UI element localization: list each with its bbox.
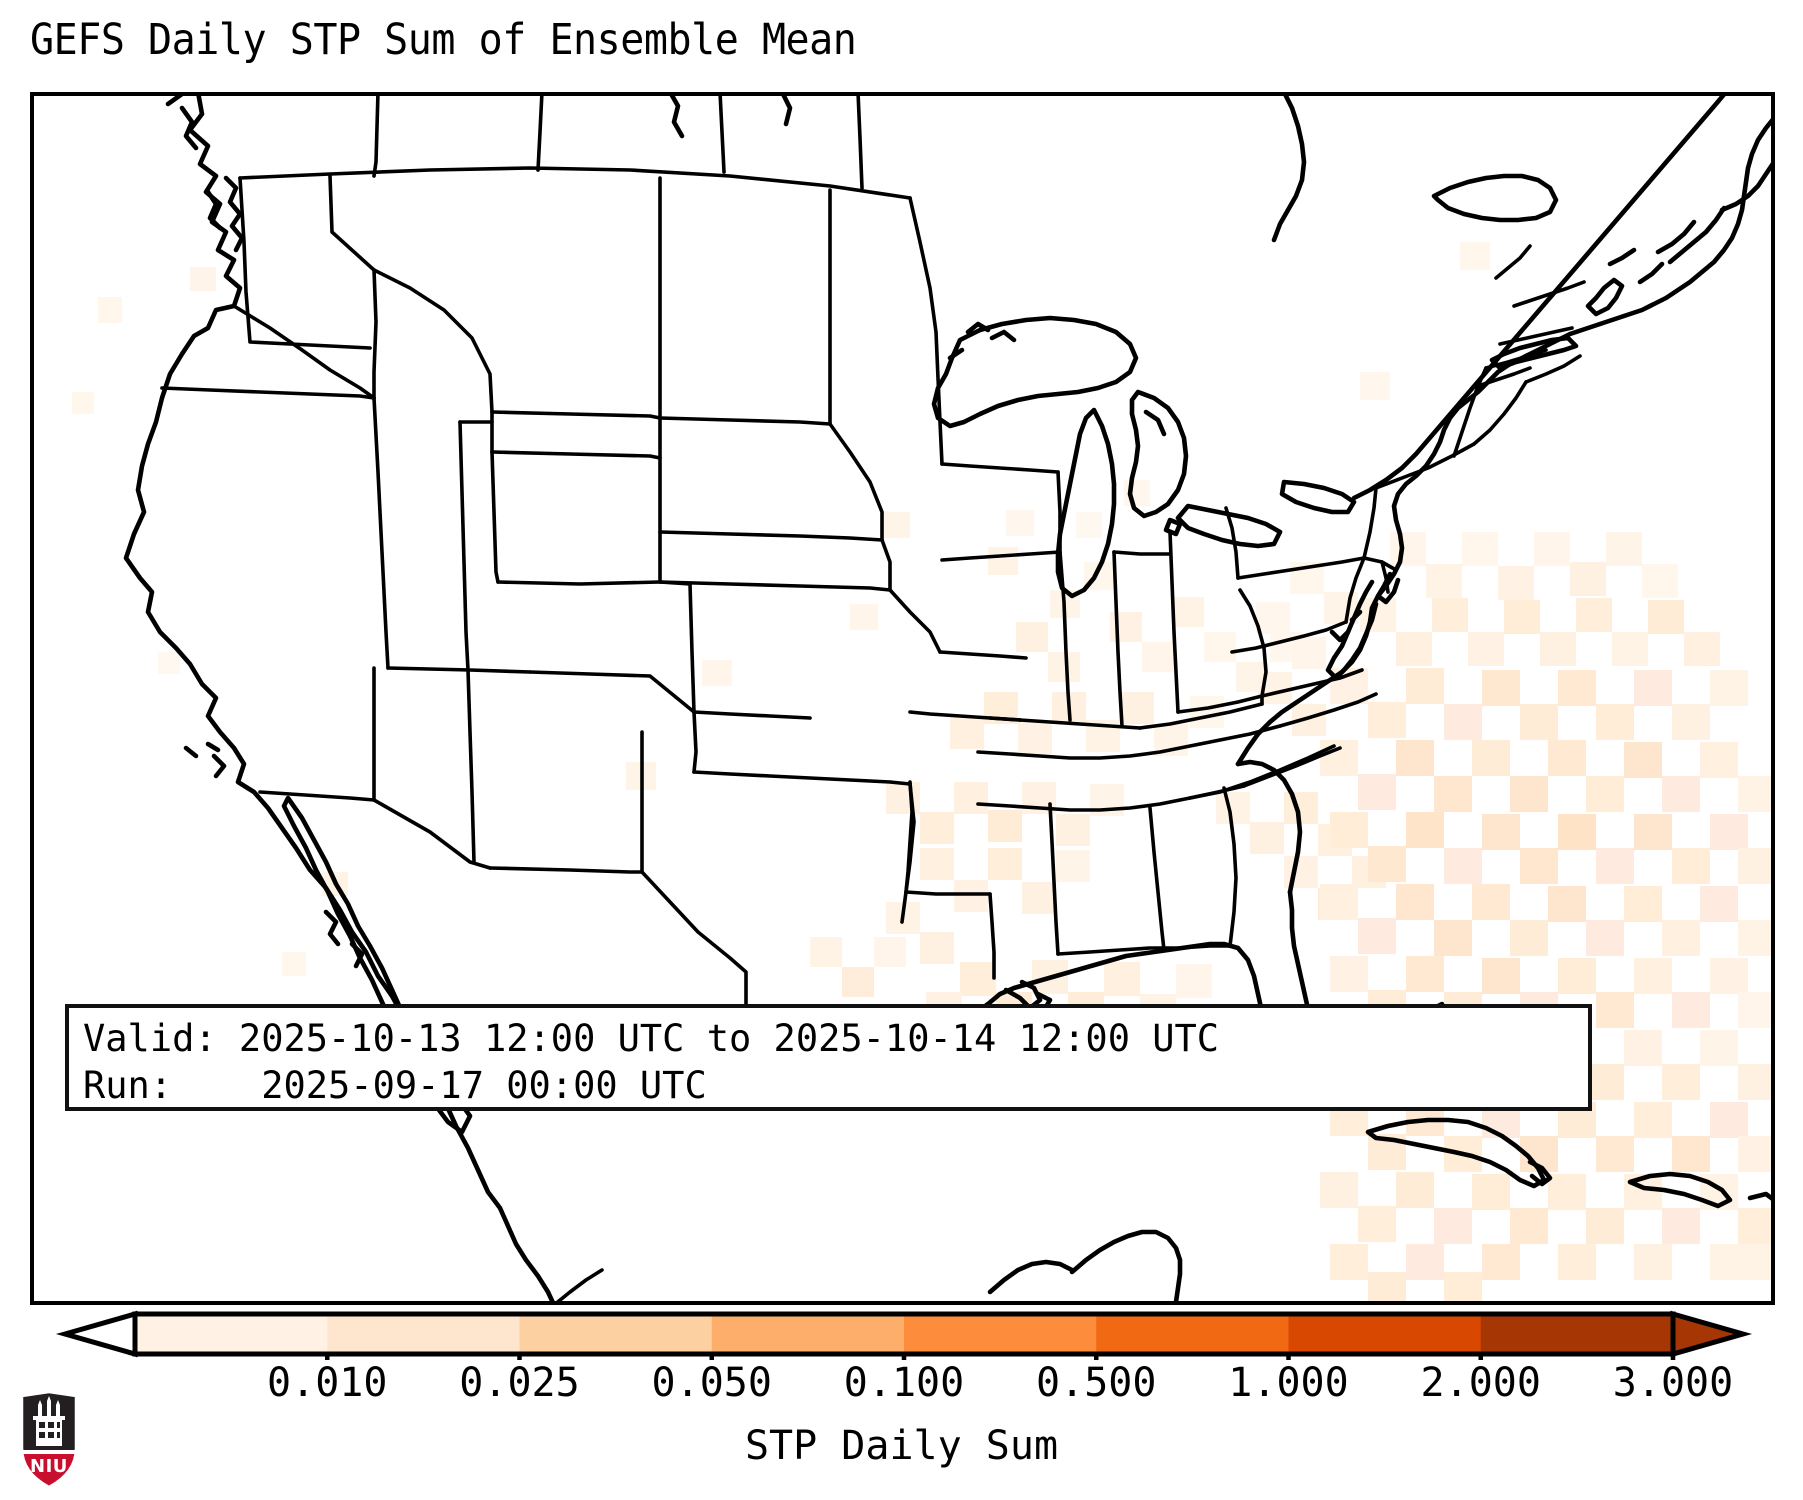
state-borders: [162, 92, 1584, 1305]
colorbar-band: [520, 1314, 713, 1354]
colorbar-tick-label: 0.500: [1036, 1360, 1156, 1406]
colorbar-band: [1289, 1314, 1482, 1354]
niu-wordmark: NIU: [30, 1456, 68, 1477]
colorbar-axis-label: STP Daily Sum: [0, 1422, 1803, 1470]
run-time-line: Run: 2025-09-17 00:00 UTC: [83, 1062, 1574, 1109]
colorbar-tick-label: 0.100: [844, 1360, 964, 1406]
colorbar-tick-label: 1.000: [1228, 1360, 1348, 1406]
colorbar[interactable]: [30, 1308, 1778, 1360]
colorbar-tick-labels: 0.0100.0250.0500.1000.5001.0002.0003.000: [0, 1360, 1803, 1412]
shield-divider: [18, 1450, 80, 1454]
colorbar-tick-label: 3.000: [1613, 1360, 1733, 1406]
valid-run-info-box: Valid: 2025-10-13 12:00 UTC to 2025-10-1…: [65, 1004, 1592, 1111]
stp-shaded-cells: [72, 242, 1775, 1302]
colorbar-band: [904, 1314, 1097, 1354]
colorbar-bands: [135, 1314, 1674, 1354]
colorbar-band: [1096, 1314, 1289, 1354]
map-canvas: [30, 92, 1775, 1305]
colorbar-under-arrow: [65, 1314, 135, 1354]
colorbar-tick-label: 0.010: [267, 1360, 387, 1406]
colorbar-band: [327, 1314, 520, 1354]
map-axes: Valid: 2025-10-13 12:00 UTC to 2025-10-1…: [30, 92, 1775, 1305]
colorbar-tick-label: 0.050: [652, 1360, 772, 1406]
colorbar-tick-label: 2.000: [1421, 1360, 1541, 1406]
valid-time-line: Valid: 2025-10-13 12:00 UTC to 2025-10-1…: [83, 1015, 1574, 1062]
colorbar-canvas: [30, 1308, 1778, 1360]
niu-logo[interactable]: NIU: [18, 1392, 80, 1488]
gefs-stp-map-figure: GEFS Daily STP Sum of Ensemble Mean: [0, 0, 1803, 1500]
colorbar-tick-label: 0.025: [459, 1360, 579, 1406]
colorbar-over-arrow: [1673, 1314, 1743, 1354]
colorbar-band: [1481, 1314, 1674, 1354]
page-title: GEFS Daily STP Sum of Ensemble Mean: [30, 14, 856, 66]
colorbar-band: [712, 1314, 905, 1354]
colorbar-band: [135, 1314, 328, 1354]
